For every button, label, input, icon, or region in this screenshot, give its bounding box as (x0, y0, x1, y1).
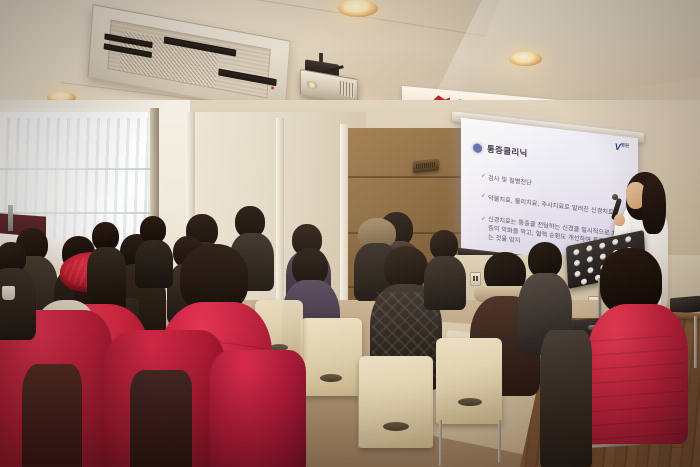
slide-check-icon: ✓ (481, 172, 486, 180)
audience-body (540, 330, 592, 467)
presenter-hair-back (642, 178, 666, 234)
audience-body (0, 268, 36, 340)
slide-check-icon: ✓ (481, 192, 486, 200)
stand-perforation (587, 256, 593, 263)
seminar-room-photo: 온바월건강강좌 V병원 V병원 통증클리닉 ✓ 검사 및 질병진단 ✓ (0, 0, 700, 467)
audience-body (424, 256, 466, 310)
table-leg (694, 316, 697, 368)
wood-panel-seam (348, 176, 468, 178)
stand-perforation (581, 278, 587, 285)
ac-indicator-light (271, 86, 274, 90)
projector-lens (307, 80, 317, 90)
recessed-light (338, 0, 378, 17)
power-outlet (470, 272, 481, 286)
window-mullion (0, 168, 150, 170)
chair-handle-slot (383, 422, 409, 431)
counter-object (8, 205, 13, 231)
slide-v-logo: V병원 (615, 142, 629, 154)
stand-perforation (574, 270, 580, 277)
slide-check-icon: ✓ (481, 215, 486, 223)
chair-handle-slot (458, 398, 482, 406)
audience-quilt-lines (590, 336, 684, 448)
audience-body (135, 240, 173, 288)
stand-perforation (587, 267, 593, 274)
chair-leg (439, 420, 442, 466)
microphone-head (612, 194, 618, 200)
stand-perforation (573, 249, 579, 256)
wall-pillar (276, 118, 284, 328)
chair-leg (498, 420, 501, 462)
presenter-hand (614, 214, 625, 226)
audience-body (87, 247, 126, 297)
chair (436, 338, 502, 424)
audience-cup (2, 286, 15, 300)
slide-logo-sub: 병원 (621, 142, 629, 148)
stand-perforation (586, 245, 592, 252)
audience-coat-shadow (130, 370, 192, 467)
slide-title-bullet-icon (473, 143, 482, 153)
audience-body (210, 350, 306, 467)
chair-handle-slot (320, 374, 342, 382)
stand-perforation (612, 238, 618, 245)
audience-coat-shadow (22, 364, 82, 467)
chair (359, 356, 433, 448)
chair (300, 318, 362, 396)
recessed-light (509, 52, 542, 66)
stand-perforation (574, 260, 580, 267)
stand-perforation (625, 236, 631, 243)
stand-perforation (599, 242, 605, 249)
projector-vent (340, 81, 354, 97)
window-mullion (0, 212, 150, 214)
